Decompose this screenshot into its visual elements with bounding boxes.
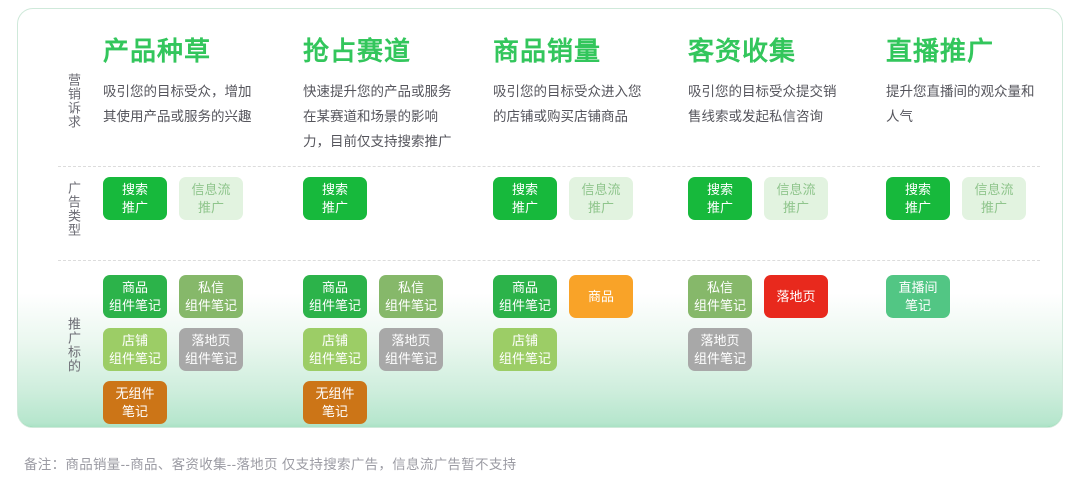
row-label-promotion-target: 推广标的: [62, 317, 80, 373]
promotion-target-badge-line2: 组件笔记: [499, 350, 551, 368]
ad-type-badge[interactable]: 搜索推广: [493, 177, 557, 220]
promotion-target-badge-line2: 组件笔记: [309, 297, 361, 315]
promotion-target-badge[interactable]: 落地页组件笔记: [379, 328, 443, 371]
footer-note: 备注：商品销量--商品、客资收集--落地页 仅支持搜索广告，信息流广告暂不支持: [24, 453, 516, 473]
promotion-target-badge[interactable]: 无组件笔记: [103, 381, 167, 424]
promotion-target-badge-line1: 商品: [322, 279, 348, 297]
ad-type-badge-line1: 搜索: [905, 181, 931, 199]
promotion-target-badge-line2: 组件笔记: [499, 297, 551, 315]
objective-column: 直播推广提升您直播间的观众量和人气: [886, 37, 1063, 130]
promotion-target-badge[interactable]: 商品组件笔记: [103, 275, 167, 318]
ad-type-badge-line1: 信息流: [776, 181, 815, 199]
promotion-target-badge[interactable]: 商品组件笔记: [493, 275, 557, 318]
divider-after-ad-type: [58, 260, 1040, 261]
ad-type-badge-line2: 推广: [198, 199, 224, 217]
promotion-target-badge[interactable]: 店铺组件笔记: [303, 328, 367, 371]
objective-column: 商品销量吸引您的目标受众进入您的店铺或购买店铺商品: [493, 37, 683, 130]
objective-column: 产品种草吸引您的目标受众，增加其使用产品或服务的兴趣: [103, 37, 293, 130]
objective-description: 吸引您的目标受众进入您的店铺或购买店铺商品: [493, 80, 653, 130]
promotion-target-badge-line1: 无组件: [315, 385, 354, 403]
promotion-target-badge-line2: 笔记: [905, 297, 931, 315]
promotion-target-badge[interactable]: 私信组件笔记: [179, 275, 243, 318]
promotion-target-grid: 商品组件笔记私信组件笔记店铺组件笔记落地页组件笔记无组件笔记: [303, 275, 473, 424]
promotion-target-badge-line1: 落地页: [776, 288, 815, 306]
ad-type-badge-line2: 推广: [512, 199, 538, 217]
promotion-target-badge[interactable]: 私信组件笔记: [379, 275, 443, 318]
promotion-target-badge[interactable]: 店铺组件笔记: [103, 328, 167, 371]
ad-type-badge[interactable]: 信息流推广: [764, 177, 828, 220]
promotion-target-badge-line2: 组件笔记: [109, 350, 161, 368]
promotion-target-badge[interactable]: 无组件笔记: [303, 381, 367, 424]
promotion-target-badge-line1: 店铺: [512, 332, 538, 350]
promotion-target-grid: 私信组件笔记落地页落地页组件笔记: [688, 275, 858, 371]
ad-type-badge[interactable]: 信息流推广: [569, 177, 633, 220]
promotion-target-badge-line1: 私信: [198, 279, 224, 297]
ad-type-badge[interactable]: 信息流推广: [179, 177, 243, 220]
ad-type-badge-line2: 推广: [707, 199, 733, 217]
objective-title: 商品销量: [493, 37, 683, 66]
ad-type-badge-line1: 信息流: [191, 181, 230, 199]
divider-after-objective: [58, 166, 1040, 167]
promotion-target-grid: 直播间笔记: [886, 275, 1056, 318]
ad-type-badge-line2: 推广: [322, 199, 348, 217]
promotion-target-badge-line1: 落地页: [700, 332, 739, 350]
objective-description: 提升您直播间的观众量和人气: [886, 80, 1046, 130]
ad-type-group: 搜索推广: [303, 177, 367, 220]
row-label-marketing-objective: 营销诉求: [62, 73, 80, 129]
promotion-target-badge-line1: 私信: [707, 279, 733, 297]
promotion-target-badge-line1: 私信: [398, 279, 424, 297]
promotion-target-badge[interactable]: 落地页组件笔记: [179, 328, 243, 371]
promotion-target-badge-line2: 组件笔记: [385, 350, 437, 368]
promotion-target-badge[interactable]: 私信组件笔记: [688, 275, 752, 318]
promotion-target-badge-line2: 笔记: [322, 403, 348, 421]
ad-type-group: 搜索推广信息流推广: [493, 177, 633, 220]
promotion-target-badge-line2: 组件笔记: [309, 350, 361, 368]
promotion-target-group: 私信组件笔记落地页落地页组件笔记: [688, 275, 878, 371]
objective-column: 客资收集吸引您的目标受众提交销售线索或发起私信咨询: [688, 37, 878, 130]
promotion-target-badge[interactable]: 落地页: [764, 275, 828, 318]
promotion-target-badge[interactable]: 商品: [569, 275, 633, 318]
ad-type-group: 搜索推广信息流推广: [103, 177, 243, 220]
ad-type-badge-line1: 搜索: [322, 181, 348, 199]
ad-type-badge-line1: 搜索: [707, 181, 733, 199]
ad-type-group: 搜索推广信息流推广: [688, 177, 828, 220]
promotion-target-grid: 商品组件笔记商品店铺组件笔记: [493, 275, 663, 371]
row-ad-type: 广告类型 搜索推广信息流推广搜索推广搜索推广信息流推广搜索推广信息流推广搜索推广…: [18, 177, 1062, 257]
promotion-target-group: 商品组件笔记私信组件笔记店铺组件笔记落地页组件笔记无组件笔记: [103, 275, 293, 424]
promotion-target-badge-line1: 商品: [512, 279, 538, 297]
ad-type-badge[interactable]: 搜索推广: [103, 177, 167, 220]
promotion-target-group: 商品组件笔记商品店铺组件笔记: [493, 275, 683, 371]
objective-description: 吸引您的目标受众，增加其使用产品或服务的兴趣: [103, 80, 263, 130]
promotion-target-badge-line1: 无组件: [115, 385, 154, 403]
ad-type-badge-line1: 信息流: [581, 181, 620, 199]
promotion-target-badge[interactable]: 商品组件笔记: [303, 275, 367, 318]
ad-type-badge-line2: 推广: [122, 199, 148, 217]
objective-title: 直播推广: [886, 37, 1063, 66]
objective-description: 快速提升您的产品或服务在某赛道和场景的影响力，目前仅支持搜索推广: [303, 80, 463, 155]
promotion-target-group: 商品组件笔记私信组件笔记店铺组件笔记落地页组件笔记无组件笔记: [303, 275, 493, 424]
ad-type-badge-line2: 推广: [783, 199, 809, 217]
promotion-target-badge-line1: 落地页: [391, 332, 430, 350]
promotion-target-badge-line2: 笔记: [122, 403, 148, 421]
ad-type-badge-line1: 信息流: [974, 181, 1013, 199]
ad-type-badge[interactable]: 搜索推广: [688, 177, 752, 220]
promotion-target-badge-line1: 直播间: [898, 279, 937, 297]
ad-type-badge-line2: 推广: [981, 199, 1007, 217]
promotion-target-badge-line1: 商品: [588, 288, 614, 306]
promotion-target-grid: 商品组件笔记私信组件笔记店铺组件笔记落地页组件笔记无组件笔记: [103, 275, 273, 424]
promotion-target-badge-line2: 组件笔记: [385, 297, 437, 315]
ad-type-badge-line1: 搜索: [122, 181, 148, 199]
promotion-target-badge-line2: 组件笔记: [694, 297, 746, 315]
ad-type-group: 搜索推广信息流推广: [886, 177, 1026, 220]
ad-type-badge[interactable]: 搜索推广: [886, 177, 950, 220]
objective-title: 客资收集: [688, 37, 878, 66]
objective-title: 产品种草: [103, 37, 293, 66]
row-marketing-objective: 营销诉求 产品种草吸引您的目标受众，增加其使用产品或服务的兴趣抢占赛道快速提升您…: [18, 37, 1062, 155]
promotion-target-badge-line2: 组件笔记: [694, 350, 746, 368]
promotion-target-badge-line2: 组件笔记: [185, 297, 237, 315]
ad-type-badge[interactable]: 搜索推广: [303, 177, 367, 220]
objective-column: 抢占赛道快速提升您的产品或服务在某赛道和场景的影响力，目前仅支持搜索推广: [303, 37, 493, 155]
objective-description: 吸引您的目标受众提交销售线索或发起私信咨询: [688, 80, 848, 130]
ad-type-badge-line2: 推广: [588, 199, 614, 217]
row-label-ad-type: 广告类型: [62, 181, 80, 237]
ad-type-badge-line2: 推广: [905, 199, 931, 217]
promotion-target-badge-line2: 组件笔记: [185, 350, 237, 368]
ad-type-badge-line1: 搜索: [512, 181, 538, 199]
promotion-target-badge-line1: 落地页: [191, 332, 230, 350]
objective-title: 抢占赛道: [303, 37, 493, 66]
promotion-target-badge[interactable]: 落地页组件笔记: [688, 328, 752, 371]
promotion-target-badge-line1: 店铺: [122, 332, 148, 350]
promotion-target-badge-line1: 店铺: [322, 332, 348, 350]
promotion-target-badge-line1: 商品: [122, 279, 148, 297]
marketing-objective-matrix-card: 营销诉求 产品种草吸引您的目标受众，增加其使用产品或服务的兴趣抢占赛道快速提升您…: [17, 8, 1063, 428]
promotion-target-group: 直播间笔记: [886, 275, 1063, 318]
promotion-target-badge-line2: 组件笔记: [109, 297, 161, 315]
row-promotion-target: 推广标的 商品组件笔记私信组件笔记店铺组件笔记落地页组件笔记无组件笔记商品组件笔…: [18, 275, 1062, 425]
promotion-target-badge[interactable]: 店铺组件笔记: [493, 328, 557, 371]
promotion-target-badge[interactable]: 直播间笔记: [886, 275, 950, 318]
ad-type-badge[interactable]: 信息流推广: [962, 177, 1026, 220]
